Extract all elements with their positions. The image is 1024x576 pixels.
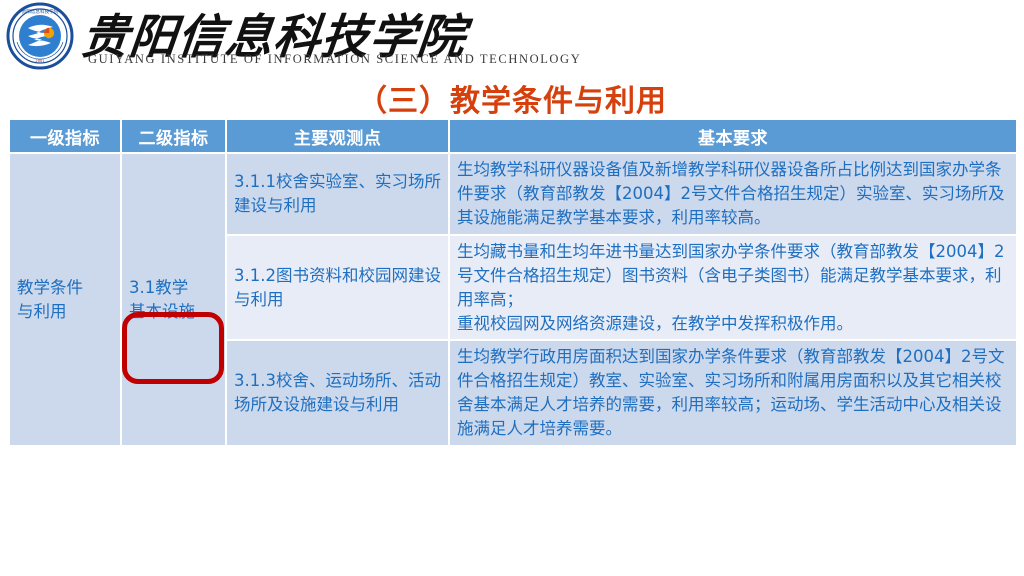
- svg-text:贵阳信息科技学院: 贵阳信息科技学院: [22, 8, 59, 15]
- school-name-english: GUIYANG INSTITUTE OF INFORMATION SCIENCE…: [88, 52, 581, 67]
- column-header-level2: 二级指标: [121, 120, 226, 153]
- masthead: 贵阳信息科技学院 2001 贵阳信息科技学院 GUIYANG INSTITUTE…: [0, 0, 1024, 72]
- table-header-row: 一级指标 二级指标 主要观测点 基本要求: [9, 120, 1017, 153]
- svg-text:2001: 2001: [35, 59, 44, 63]
- page-title: （三）教学条件与利用: [0, 76, 1024, 120]
- table-row: 教学条件 与利用 3.1教学 基本设施 3.1.1校舍实验室、实习场所建设与利用…: [9, 153, 1017, 235]
- cell-observation-311: 3.1.1校舍实验室、实习场所建设与利用: [226, 153, 449, 235]
- cell-requirement-313: 生均教学行政用房面积达到国家办学条件要求（教育部教发【2004】2号文件合格招生…: [449, 340, 1017, 446]
- evaluation-indicator-table: 一级指标 二级指标 主要观测点 基本要求 教学条件 与利用 3.1教学 基本设施…: [8, 120, 1018, 447]
- cell-level2-indicator: 3.1教学 基本设施: [121, 153, 226, 446]
- cell-level1-indicator: 教学条件 与利用: [9, 153, 121, 446]
- column-header-observation: 主要观测点: [226, 120, 449, 153]
- level2-line2: 基本设施: [129, 300, 218, 324]
- cell-observation-312: 3.1.2图书资料和校园网建设与利用: [226, 235, 449, 341]
- column-header-level1: 一级指标: [9, 120, 121, 153]
- column-header-requirement: 基本要求: [449, 120, 1017, 153]
- cell-requirement-312: 生均藏书量和生均年进书量达到国家办学条件要求（教育部教发【2004】2号文件合格…: [449, 235, 1017, 341]
- cell-requirement-311: 生均教学科研仪器设备值及新增教学科研仪器设备所占比例达到国家办学条件要求（教育部…: [449, 153, 1017, 235]
- level1-line1: 教学条件: [17, 276, 113, 300]
- level1-line2: 与利用: [17, 300, 113, 324]
- cell-observation-313: 3.1.3校舍、运动场所、活动场所及设施建设与利用: [226, 340, 449, 446]
- university-seal-icon: 贵阳信息科技学院 2001: [6, 2, 74, 70]
- level2-line1: 3.1教学: [129, 276, 218, 300]
